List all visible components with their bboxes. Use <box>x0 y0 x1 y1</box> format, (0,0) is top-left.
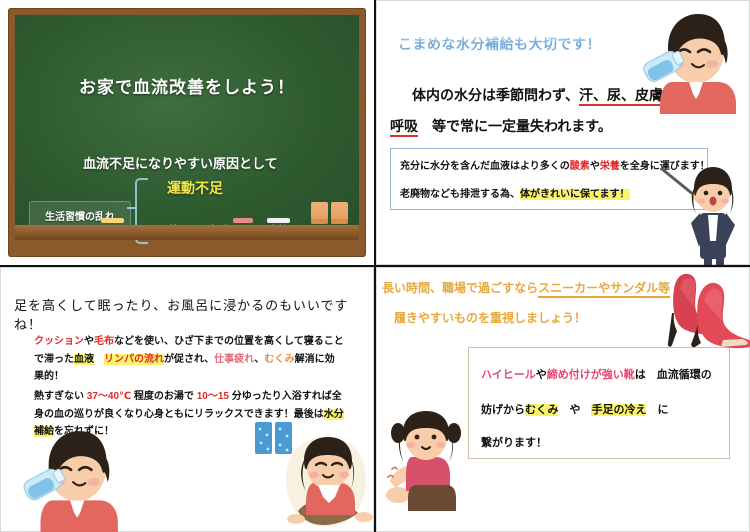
blackboard-surface: お家で血流改善をしよう！ 血流不足になりやすい原因として 生活習慣の乱れ 運動不… <box>15 15 359 240</box>
p1-swelling: むくみ <box>264 354 294 365</box>
callout-row-1-b: や <box>590 161 600 172</box>
hydration-title: こまめな水分補給も大切です！ <box>398 34 601 54</box>
slide-grid-screenshot: お家で血流改善をしよう！ 血流不足になりやすい原因として 生活習慣の乱れ 運動不… <box>0 0 750 532</box>
footwear-box-line-1: ハイヒールや締め付けが強い靴は 血流循環の <box>481 366 712 382</box>
callout-row-2-marked: 体がきれいに保てます！ <box>520 189 630 200</box>
swelling-term: むくみ <box>525 404 558 416</box>
cold-limbs-term: 手足の冷え <box>591 404 646 416</box>
p1-s6 <box>94 354 104 365</box>
blackboard-frame: お家で血流改善をしよう！ 血流不足になりやすい原因として 生活習慣の乱れ 運動不… <box>8 8 366 257</box>
hydration-line-2-rest: 等で常に一定量失われます。 <box>418 118 612 134</box>
callout-row-2-a: 老廃物なども排泄する為、 <box>400 189 520 200</box>
woman-drinking-water-illustration <box>634 8 742 114</box>
red-chalk <box>233 218 253 223</box>
hydration-line-2: 呼吸 等で常に一定量失われます。 <box>390 116 612 136</box>
slide-top-right: こまめな水分補給も大切です！ 体内の水分は季節問わず、汗、尿、皮膚 呼吸 等で常… <box>376 0 750 265</box>
p1-lymph: リンパの流れ <box>104 354 164 365</box>
woman-drinking-water-illustration <box>14 425 124 532</box>
yellow-chalk <box>101 218 124 223</box>
slide-top-left: お家で血流改善をしよう！ 血流不足になりやすい原因として 生活習慣の乱れ 運動不… <box>0 0 374 265</box>
box-l1-a: や <box>536 369 547 381</box>
brace-tick <box>127 207 137 209</box>
horizontal-divider <box>0 265 750 267</box>
p1-s10: 、 <box>254 354 264 365</box>
p1-work-fatigue: 仕事疲れ <box>214 354 254 365</box>
sleep-paragraph: クッションや毛布などを使い、ひざ下までの位置を高くして寝ることで滞った血液 リン… <box>34 333 344 386</box>
hydration-line-2-underlined: 呼吸 <box>390 118 418 137</box>
blackboard-subtitle: 血流不足になりやすい原因として <box>83 153 278 172</box>
footwear-box-line-3: 繋がります！ <box>481 434 547 450</box>
eraser-1 <box>311 202 328 224</box>
p1-blanket: 毛布 <box>94 336 114 347</box>
chalk-ledge <box>15 225 359 240</box>
box-l2-b: や <box>558 404 591 416</box>
footwear-title-underlined: スニーカーやサンダル等 <box>538 281 670 298</box>
callout-row-2: 老廃物なども排泄する為、体がきれいに保てます！ <box>400 189 630 201</box>
woman-with-pointer-illustration <box>660 155 750 265</box>
p1-cushion: クッション <box>34 336 84 347</box>
woman-holding-leg-illustration <box>386 407 468 513</box>
callout-oxygen: 酸素 <box>570 161 590 172</box>
relaxed-woman-illustration <box>278 433 374 532</box>
p1-s8: が促され、 <box>164 354 214 365</box>
footwear-callout-box: ハイヒールや締め付けが強い靴は 血流循環の 妨げからむくみ や 手足の冷え に … <box>468 347 730 459</box>
sleep-bath-title: 足を高くして眠ったり、お風呂に浸かるのもいいですね！ <box>14 295 374 333</box>
footwear-title-line-1: 長い時間、職場で過ごすならスニーカーやサンダル等 <box>382 279 670 296</box>
p1-s2: や <box>84 336 94 347</box>
box-l2-a: 妨げから <box>481 404 525 416</box>
high-heels-term: ハイヒール <box>481 369 536 381</box>
footwear-box-line-2: 妨げからむくみ や 手足の冷え に <box>481 401 668 417</box>
p1-blood: 血液 <box>74 354 94 365</box>
p2-duration: 10～15 <box>197 391 229 402</box>
p2-t1: 熱すぎない <box>34 391 87 402</box>
hydration-line-1-text: 体内の水分は季節問わず、 <box>412 87 579 103</box>
tight-shoes-term: 締め付けが強い靴 <box>547 369 635 381</box>
white-chalk <box>267 218 290 223</box>
eraser-2 <box>331 202 348 224</box>
blackboard-title: お家で血流改善をしよう！ <box>15 73 359 98</box>
p2-temperature: 37～40℃ <box>87 391 131 402</box>
hydration-line-1: 体内の水分は季節問わず、汗、尿、皮膚 <box>412 85 663 105</box>
slide-bottom-right: 長い時間、職場で過ごすならスニーカーやサンダル等 履きやすいものを重視しましょう… <box>376 267 750 532</box>
callout-nutrition: 栄養 <box>600 161 620 172</box>
cause-item-1: 運動不足 <box>167 178 223 198</box>
slide-bottom-left: 足を高くして眠ったり、お風呂に浸かるのもいいですね！ クッションや毛布などを使い… <box>0 267 374 532</box>
p2-t3: 程度のお湯で <box>131 391 197 402</box>
box-l2-c: に <box>646 404 668 416</box>
footwear-title-line-2: 履きやすいものを重視しましょう！ <box>394 309 586 326</box>
red-high-heels-illustration <box>654 269 750 351</box>
callout-row-1-a: 充分に水分を含んだ血液はより多くの <box>400 161 570 172</box>
box-l1-b: は 血流循環の <box>635 369 712 381</box>
footwear-title-a: 長い時間、職場で過ごすなら <box>382 281 538 295</box>
